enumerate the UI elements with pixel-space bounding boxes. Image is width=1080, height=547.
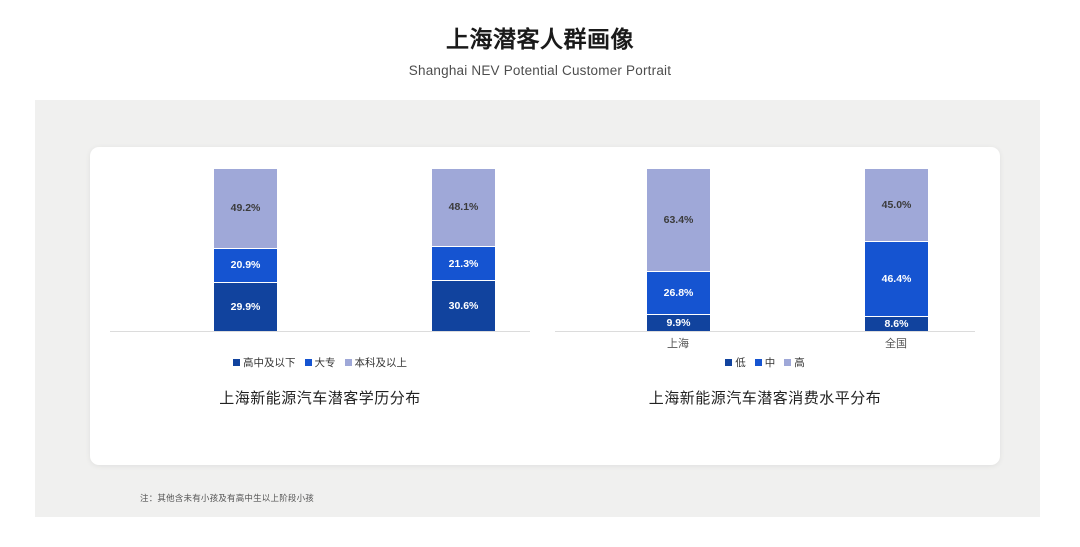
chart-consumption: 63.4%26.8%9.9% 45.0%46.4%8.6% 上海全国 低中高 上…: [545, 147, 985, 465]
charts-row: 49.2%20.9%29.9% 48.1%21.3%30.6% 高中及以下大专本…: [90, 147, 1000, 465]
content-panel: 49.2%20.9%29.9% 48.1%21.3%30.6% 高中及以下大专本…: [35, 100, 1040, 517]
bar-stack[interactable]: 63.4%26.8%9.9%: [647, 169, 710, 331]
legend-item[interactable]: 大专: [305, 355, 336, 370]
chart-caption-education: 上海新能源汽车潜客学历分布: [100, 387, 540, 408]
bar-stack[interactable]: 45.0%46.4%8.6%: [865, 169, 928, 331]
legend-label: 高中及以下: [243, 355, 296, 370]
legend-swatch-icon: [725, 359, 732, 366]
bar-segment[interactable]: 8.6%: [865, 317, 928, 331]
page-title: 上海潜客人群画像: [0, 26, 1080, 54]
bar-segment[interactable]: 30.6%: [432, 281, 495, 331]
bar-segment[interactable]: 9.9%: [647, 315, 710, 331]
bar-segment[interactable]: 46.4%: [865, 242, 928, 317]
legend-label: 中: [765, 355, 776, 370]
legend-swatch-icon: [345, 359, 352, 366]
legend-item[interactable]: 高中及以下: [233, 355, 296, 370]
legend-label: 低: [735, 355, 746, 370]
page-header: 上海潜客人群画像 Shanghai NEV Potential Customer…: [0, 0, 1080, 78]
bar-segment[interactable]: 26.8%: [647, 272, 710, 315]
x-axis-line: [555, 331, 975, 332]
legend-item[interactable]: 低: [725, 355, 746, 370]
x-axis-line: [110, 331, 530, 332]
legend-consumption: 低中高: [545, 355, 985, 370]
legend-label: 高: [794, 355, 805, 370]
legend-item[interactable]: 本科及以上: [345, 355, 408, 370]
bar-segment[interactable]: 49.2%: [214, 169, 277, 249]
bar-segment[interactable]: 63.4%: [647, 169, 710, 272]
footnote: 注：其他含未有小孩及有高中生以上阶段小孩: [140, 492, 314, 504]
bar-segment[interactable]: 20.9%: [214, 249, 277, 283]
bar-segment[interactable]: 48.1%: [432, 169, 495, 247]
legend-swatch-icon: [305, 359, 312, 366]
legend-swatch-icon: [784, 359, 791, 366]
chart-education: 49.2%20.9%29.9% 48.1%21.3%30.6% 高中及以下大专本…: [100, 147, 540, 465]
legend-swatch-icon: [233, 359, 240, 366]
page-subtitle: Shanghai NEV Potential Customer Portrait: [0, 63, 1080, 78]
legend-swatch-icon: [755, 359, 762, 366]
bar-segment[interactable]: 45.0%: [865, 169, 928, 242]
chart-card: 49.2%20.9%29.9% 48.1%21.3%30.6% 高中及以下大专本…: [90, 147, 1000, 465]
x-axis-labels-consumption: 上海全国: [545, 335, 985, 353]
plot-area-education: 49.2%20.9%29.9% 48.1%21.3%30.6%: [100, 147, 540, 332]
legend-label: 大专: [315, 355, 336, 370]
legend-education: 高中及以下大专本科及以上: [100, 355, 540, 370]
bar-stack[interactable]: 49.2%20.9%29.9%: [214, 169, 277, 331]
legend-item[interactable]: 高: [784, 355, 805, 370]
plot-area-consumption: 63.4%26.8%9.9% 45.0%46.4%8.6%: [545, 147, 985, 332]
legend-label: 本科及以上: [355, 355, 408, 370]
chart-caption-consumption: 上海新能源汽车潜客消费水平分布: [545, 387, 985, 408]
x-axis-labels-education: [100, 335, 540, 353]
bar-segment[interactable]: 21.3%: [432, 247, 495, 282]
bar-stack[interactable]: 48.1%21.3%30.6%: [432, 169, 495, 331]
x-axis-label: 上海: [633, 335, 723, 351]
x-axis-label: 全国: [851, 335, 941, 351]
bar-segment[interactable]: 29.9%: [214, 283, 277, 331]
legend-item[interactable]: 中: [755, 355, 776, 370]
